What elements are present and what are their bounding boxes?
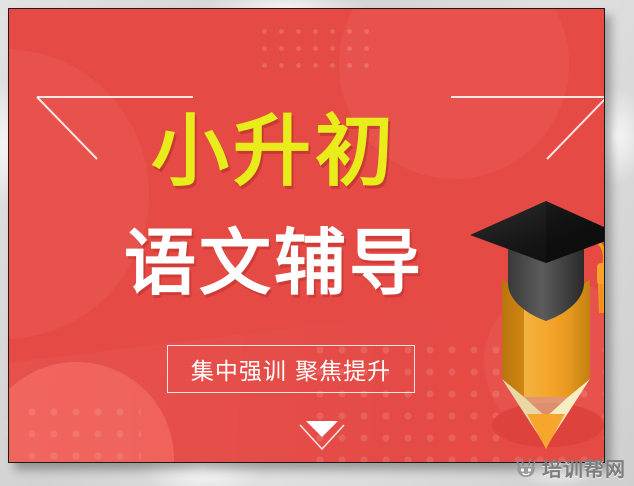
poster-subheadline: 语文辅导 [9,227,539,299]
promo-poster: 小升初 语文辅导 集中强训 聚焦提升 [8,8,605,463]
poster-tagline: 集中强训 聚焦提升 [191,352,391,386]
smiley-sun-icon [515,458,537,478]
site-watermark: 培训帮网 [511,451,630,484]
down-arrow-icon [292,415,352,455]
tagline-box: 集中强训 聚焦提升 [167,345,415,393]
tassel-knot [597,263,605,285]
dot-pattern-bottom-left [21,401,141,463]
dot-pattern-top [256,23,377,75]
decorative-circle-bottom-left [8,362,174,463]
watermark-text: 培训帮网 [542,453,626,482]
screenshot-stage: 小升初 语文辅导 集中强训 聚焦提升 [0,0,634,486]
pencil-graduation-cap-illustration [464,201,605,463]
poster-headline: 小升初 [9,113,539,191]
